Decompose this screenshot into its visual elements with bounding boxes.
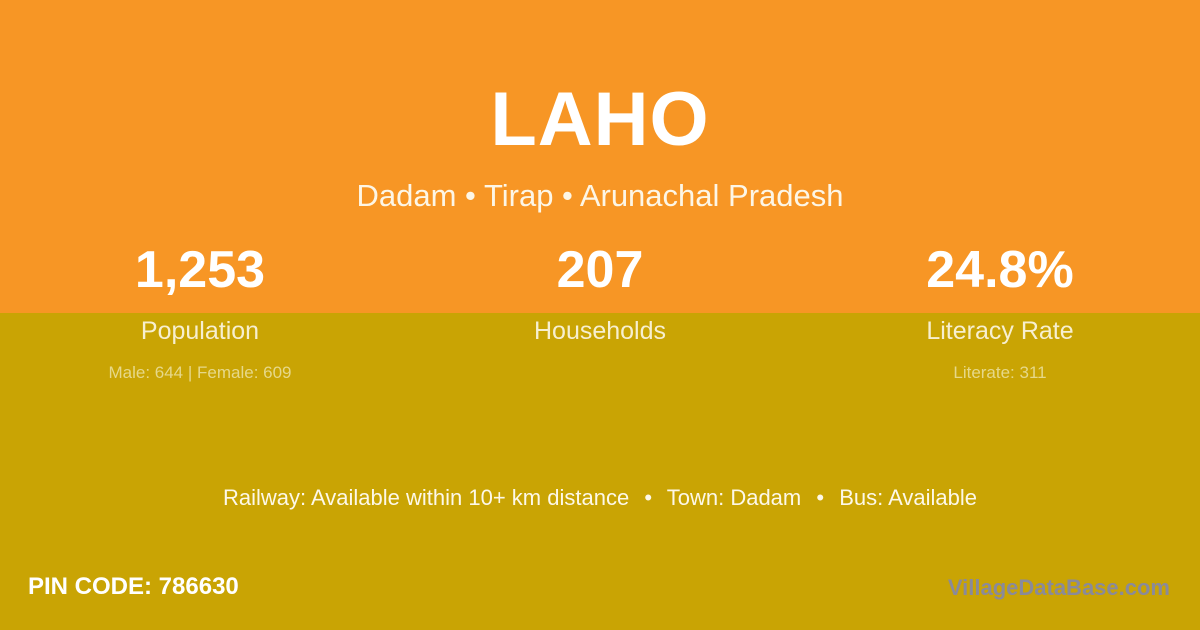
pin-code-label: PIN CODE: 786630 xyxy=(28,575,239,599)
stat-label: Literacy Rate xyxy=(800,304,1200,344)
amenity-bus: Bus: Available xyxy=(839,485,977,510)
stat-label: Households xyxy=(400,304,800,344)
page-title: LAHO xyxy=(0,0,1200,158)
stats-row: 1,253 Population Male: 644 | Female: 609… xyxy=(0,244,1200,381)
amenity-town: Town: Dadam xyxy=(667,485,802,510)
site-brand[interactable]: VillageDataBase.com xyxy=(948,577,1170,599)
stat-value: 207 xyxy=(400,244,800,304)
amenity-separator: • xyxy=(807,485,833,510)
amenities-line: Railway: Available within 10+ km distanc… xyxy=(0,487,1200,509)
stat-sub-detail: Literate: 311 xyxy=(800,344,1200,381)
card-footer: PIN CODE: 786630 VillageDataBase.com xyxy=(0,575,1200,630)
stat-value: 1,253 xyxy=(0,244,400,304)
card-header: LAHO Dadam • Tirap • Arunachal Pradesh xyxy=(0,0,1200,211)
amenity-separator: • xyxy=(635,485,661,510)
stat-literacy-rate: 24.8% Literacy Rate Literate: 311 xyxy=(800,244,1200,381)
location-breadcrumb: Dadam • Tirap • Arunachal Pradesh xyxy=(0,158,1200,211)
stat-sub-detail xyxy=(400,344,800,381)
stat-population: 1,253 Population Male: 644 | Female: 609 xyxy=(0,244,400,381)
stat-sub-detail: Male: 644 | Female: 609 xyxy=(0,344,400,381)
stat-households: 207 Households xyxy=(400,244,800,381)
amenity-railway: Railway: Available within 10+ km distanc… xyxy=(223,485,629,510)
stat-value: 24.8% xyxy=(800,244,1200,304)
stat-label: Population xyxy=(0,304,400,344)
village-info-card: LAHO Dadam • Tirap • Arunachal Pradesh 1… xyxy=(0,0,1200,630)
